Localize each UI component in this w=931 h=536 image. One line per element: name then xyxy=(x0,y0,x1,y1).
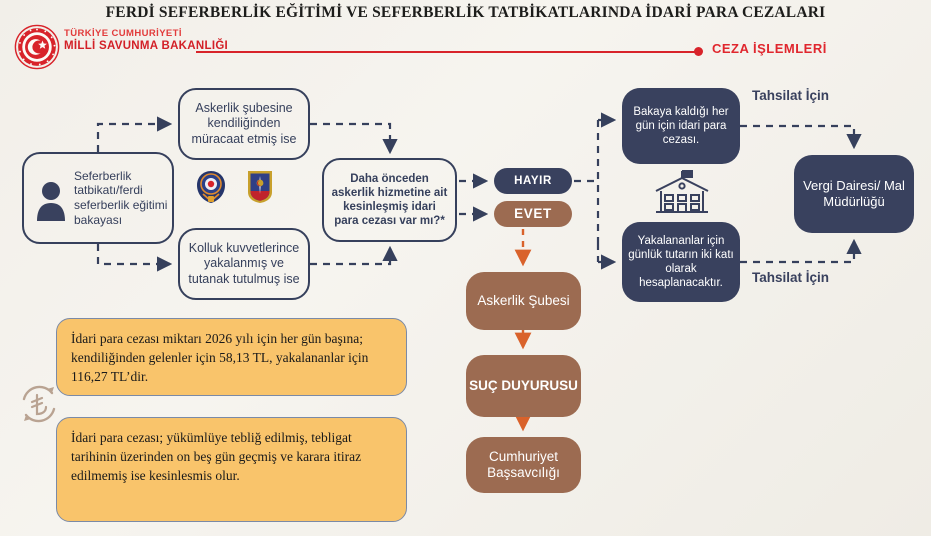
node-kolluk-yakalanmis-label: Kolluk kuvvetlerince yakalanmış ve tutan… xyxy=(188,241,300,287)
note-ceza-miktari: İdari para cezası miktarı 2026 yılı için… xyxy=(56,318,407,396)
node-kendiliginden-muracaat-label: Askerlik şubesine kendiliğinden müracaat… xyxy=(188,101,300,147)
note-kesinlesme-sarti: İdari para cezası; yükümlüye tebliğ edil… xyxy=(56,417,407,522)
node-decision-onceki-ceza[interactable]: Daha önceden askerlik hizmetine ait kesi… xyxy=(322,158,457,242)
node-askerlik-subesi-label: Askerlik Şubesi xyxy=(477,293,569,309)
pill-answer-hayir-label: HAYIR xyxy=(514,174,552,188)
node-gunluk-idari-para-cezasi[interactable]: Bakaya kaldığı her gün için idari para c… xyxy=(622,88,740,164)
node-cumhuriyet-bassavciligi[interactable]: Cumhuriyet Başsavcılığı xyxy=(466,437,581,493)
gendarmerie-general-command-emblem-icon xyxy=(246,170,274,204)
node-vergi-dairesi-label: Vergi Dairesi/ Mal Müdürlüğü xyxy=(794,178,914,210)
node-decision-onceki-ceza-label: Daha önceden askerlik hizmetine ait kesi… xyxy=(330,172,449,228)
node-kolluk-yakalanmis[interactable]: Kolluk kuvvetlerince yakalanmış ve tutan… xyxy=(178,228,310,300)
node-suc-duyurusu-label: SUÇ DUYURUSU xyxy=(469,378,578,394)
label-tahsilat-icin-top: Tahsilat İçin xyxy=(752,88,829,103)
turkish-national-police-emblem-icon xyxy=(196,170,226,204)
pill-answer-evet[interactable]: EVET xyxy=(494,201,572,227)
node-kendiliginden-muracaat[interactable]: Askerlik şubesine kendiliğinden müracaat… xyxy=(178,88,310,160)
ministry-name-line1: TÜRKİYE CUMHURİYETİ xyxy=(64,28,182,39)
header-divider-rule xyxy=(196,51,697,53)
label-tahsilat-icin-bottom: Tahsilat İçin xyxy=(752,270,829,285)
lira-refresh-icon xyxy=(16,381,62,427)
node-gunluk-idari-para-cezasi-label: Bakaya kaldığı her gün için idari para c… xyxy=(628,105,734,147)
node-vergi-dairesi[interactable]: Vergi Dairesi/ Mal Müdürlüğü xyxy=(794,155,914,233)
turkish-ministry-of-defence-emblem-icon xyxy=(14,24,60,70)
header-subtitle: CEZA İŞLEMLERİ xyxy=(712,41,827,56)
header-bullet-dot xyxy=(694,47,703,56)
node-yakalananlar-iki-kat-label: Yakalananlar için günlük tutarın iki kat… xyxy=(628,234,734,290)
node-cumhuriyet-bassavciligi-label: Cumhuriyet Başsavcılığı xyxy=(466,449,581,482)
node-seferberlik-bakayasi-label: Seferberlik tatbikatı/ferdi seferberlik … xyxy=(74,169,172,228)
page-title: FERDİ SEFERBERLİK EĞİTİMİ VE SEFERBERLİK… xyxy=(0,4,931,22)
node-yakalananlar-iki-kat[interactable]: Yakalananlar için günlük tutarın iki kat… xyxy=(622,222,740,302)
pill-answer-hayir[interactable]: HAYIR xyxy=(494,168,572,194)
infographic-canvas: FERDİ SEFERBERLİK EĞİTİMİ VE SEFERBERLİK… xyxy=(0,0,931,536)
node-askerlik-subesi[interactable]: Askerlik Şubesi xyxy=(466,272,581,330)
node-seferberlik-bakayasi[interactable]: Seferberlik tatbikatı/ferdi seferberlik … xyxy=(22,152,174,244)
node-suc-duyurusu[interactable]: SUÇ DUYURUSU xyxy=(466,355,581,417)
government-building-icon xyxy=(652,168,712,216)
pill-answer-evet-label: EVET xyxy=(514,206,552,222)
person-icon xyxy=(36,180,66,222)
